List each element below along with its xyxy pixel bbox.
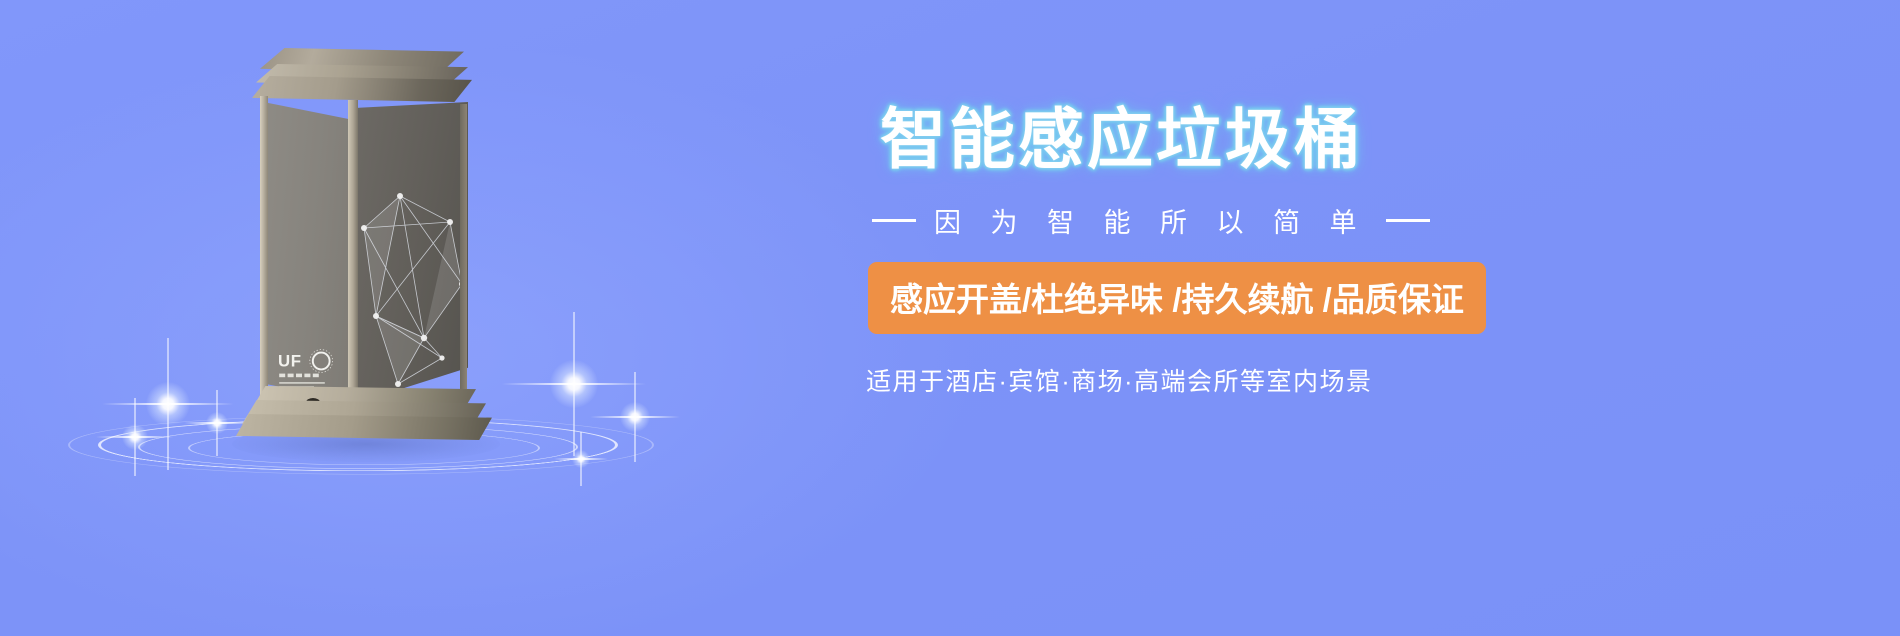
- sparkle-icon: [550, 360, 598, 408]
- product-banner: UF 智能感应垃圾桶: [0, 0, 1900, 636]
- sparkle-icon: [206, 412, 228, 434]
- body-edge-left: [260, 96, 268, 404]
- ufo-brand-logo: UF: [278, 348, 344, 392]
- feature-badge: 感应开盖/杜绝异味 /持久续航 /品质保证: [868, 262, 1486, 334]
- page-title: 智能感应垃圾桶: [880, 104, 1740, 175]
- lid-rim: [252, 76, 472, 102]
- brand-wordmark: UF: [278, 351, 302, 370]
- marketing-copy: 智能感应垃圾桶 因 为 智 能 所 以 简 单 感应开盖/杜绝异味 /持久续航 …: [880, 104, 1740, 398]
- rule-left-icon: [872, 219, 916, 222]
- product-stage: UF: [60, 20, 700, 540]
- body-edge-right: [460, 104, 467, 404]
- body-edge-center: [348, 100, 358, 408]
- base-tier-3: [236, 414, 492, 440]
- smart-trash-can-product: UF: [232, 48, 492, 440]
- scene-description: 适用于酒店·宾馆·商场·高端会所等室内场景: [866, 362, 1740, 398]
- sparkle-icon: [572, 450, 590, 468]
- subtitle: 因 为 智 能 所 以 简 单: [934, 201, 1368, 240]
- sparkle-icon: [146, 382, 190, 426]
- low-poly-graphic: [354, 188, 470, 398]
- subtitle-row: 因 为 智 能 所 以 简 单: [872, 201, 1740, 240]
- rule-right-icon: [1386, 219, 1430, 222]
- sparkle-icon: [620, 402, 650, 432]
- sparkle-icon: [122, 424, 148, 450]
